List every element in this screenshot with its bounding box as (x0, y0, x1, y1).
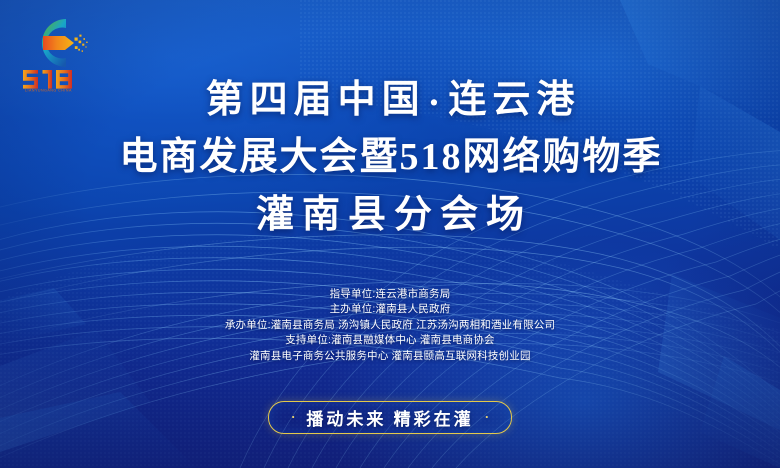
credit-line-host: 主办单位:灌南县人民政府 (0, 302, 780, 317)
credit-line-support-extra: 灌南县电子商务公共服务中心 灌南县颐高互联网科技创业园 (0, 349, 780, 364)
headline-line-1-part-a: 第四届中国 (206, 79, 426, 121)
headline-line-3: 灌南县分会场 (0, 192, 780, 238)
headline-line-1-part-b: 连云港 (448, 79, 580, 121)
credit-line-guidance: 指导单位:连云港市商务局 (0, 287, 780, 302)
organizer-credits: 指导单位:连云港市商务局 主办单位:灌南县人民政府 承办单位:灌南县商务局 汤沟… (0, 287, 780, 364)
credit-line-support: 支持单位:灌南县融媒体中心 灌南县电商协会 (0, 333, 780, 348)
headline-separator-dot: · (426, 81, 449, 126)
headline-line-2: 电商发展大会暨518网络购物季 (0, 134, 780, 180)
slogan-bullet-left-icon: · (291, 410, 295, 423)
headline-line-1: 第四届中国·连云港 (0, 78, 780, 126)
logo-arrow-mark (43, 35, 88, 52)
slogan-badge: · 播动未来 精彩在灌 · (268, 401, 512, 434)
slogan-container: · 播动未来 精彩在灌 · (0, 401, 780, 434)
credit-line-organizer: 承办单位:灌南县商务局 汤沟镇人民政府 江苏汤沟两相和酒业有限公司 (0, 318, 780, 333)
event-poster: LIANYUNGANG CHINA 第四届中国·连云港 电商发展大会暨518网络… (0, 0, 780, 468)
slogan-bullet-right-icon: · (485, 410, 489, 423)
slogan-text: 播动未来 精彩在灌 (304, 405, 475, 430)
poster-headline: 第四届中国·连云港 电商发展大会暨518网络购物季 灌南县分会场 (0, 78, 780, 238)
